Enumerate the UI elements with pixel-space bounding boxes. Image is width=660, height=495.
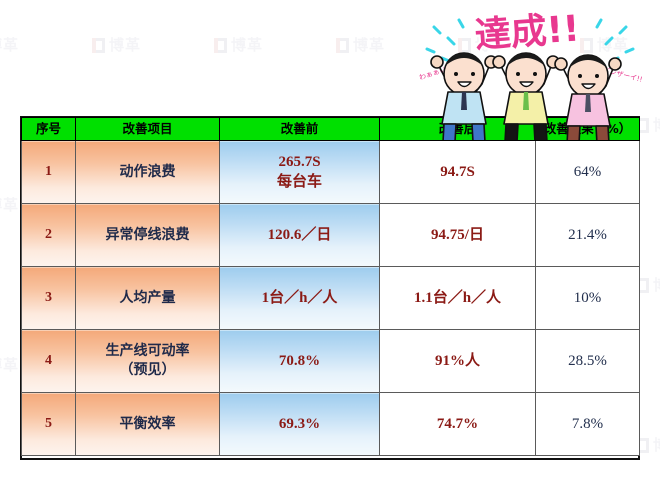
cell-no-5: 5	[22, 393, 76, 456]
bogo-logo-icon	[336, 38, 349, 53]
table-row: 1 动作浪费 265.7S 每台车 94.7S 64%	[22, 141, 640, 204]
cell-no-2: 2	[22, 204, 76, 267]
cell-item-5: 平衡效率	[76, 393, 220, 456]
cell-effect-3: 10%	[536, 267, 640, 330]
table-row: 5 平衡效率 69.3% 74.7% 7.8%	[22, 393, 640, 456]
column-header-item: 改善项目	[76, 118, 220, 141]
watermark-text: 博革	[109, 38, 141, 53]
column-header-before: 改善前	[220, 118, 380, 141]
watermark-item: 博革	[0, 198, 19, 213]
cell-item-3: 人均产量	[76, 267, 220, 330]
watermark-item: 博革	[336, 38, 385, 53]
cell-item-4: 生产线可动率 （预见）	[76, 330, 220, 393]
cell-no-1: 1	[22, 141, 76, 204]
watermark-text: 博革	[0, 198, 19, 213]
person-right	[555, 55, 621, 140]
cell-effect-5: 7.8%	[536, 393, 640, 456]
cell-after-5: 74.7%	[380, 393, 536, 456]
cell-item-4-line2: （预见）	[76, 361, 219, 380]
watermark-item: 博革	[92, 38, 141, 53]
table-row: 2 异常停线浪费 120.6／日 94.75/日 21.4%	[22, 204, 640, 267]
cell-before-1-line1: 265.7S	[220, 152, 379, 172]
cell-effect-1: 64%	[536, 141, 640, 204]
svg-text:達成!!: 達成!!	[473, 8, 580, 56]
cell-item-2: 异常停线浪费	[76, 204, 220, 267]
watermark-text: 博革	[0, 38, 19, 53]
cell-no-3: 3	[22, 267, 76, 330]
watermark-text: 博革	[653, 118, 660, 133]
cell-item-4-line1: 生产线可动率	[76, 342, 219, 361]
improvement-results-table: 序号 改善项目 改善前 改善后 改善效果（%） 1 动作浪费 265.7S 每台…	[21, 117, 640, 456]
watermark-text: 博革	[231, 38, 263, 53]
bogo-logo-icon	[214, 38, 227, 53]
cell-before-5: 69.3%	[220, 393, 380, 456]
bogo-logo-icon	[92, 38, 105, 53]
table-row: 3 人均产量 1台／h／人 1.1台／h／人 10%	[22, 267, 640, 330]
cell-before-4: 70.8%	[220, 330, 380, 393]
cell-after-1: 94.7S	[380, 141, 536, 204]
column-header-no: 序号	[22, 118, 76, 141]
cell-no-4: 4	[22, 330, 76, 393]
cell-before-2: 120.6／日	[220, 204, 380, 267]
watermark-text: 博革	[653, 438, 660, 453]
watermark-text: 博革	[653, 278, 660, 293]
watermark-item: 博革	[214, 38, 263, 53]
three-cheering-people-illustration: 達成!! わぁぁい!! バンザーイ!!	[404, 2, 652, 140]
person-left	[431, 53, 497, 140]
cell-before-1-line2: 每台车	[220, 172, 379, 192]
cell-item-1: 动作浪费	[76, 141, 220, 204]
cell-before-3: 1台／h／人	[220, 267, 380, 330]
watermark-text: 博革	[353, 38, 385, 53]
cell-before-1: 265.7S 每台车	[220, 141, 380, 204]
cell-after-2: 94.75/日	[380, 204, 536, 267]
table-row: 4 生产线可动率 （预见） 70.8% 91%人 28.5%	[22, 330, 640, 393]
watermark-text: 博革	[0, 358, 19, 373]
cell-effect-2: 21.4%	[536, 204, 640, 267]
cell-effect-4: 28.5%	[536, 330, 640, 393]
watermark-item: 博革	[0, 38, 19, 53]
cell-after-3: 1.1台／h／人	[380, 267, 536, 330]
cell-after-4: 91%人	[380, 330, 536, 393]
watermark-item: 博革	[0, 358, 19, 373]
person-center	[493, 53, 559, 140]
